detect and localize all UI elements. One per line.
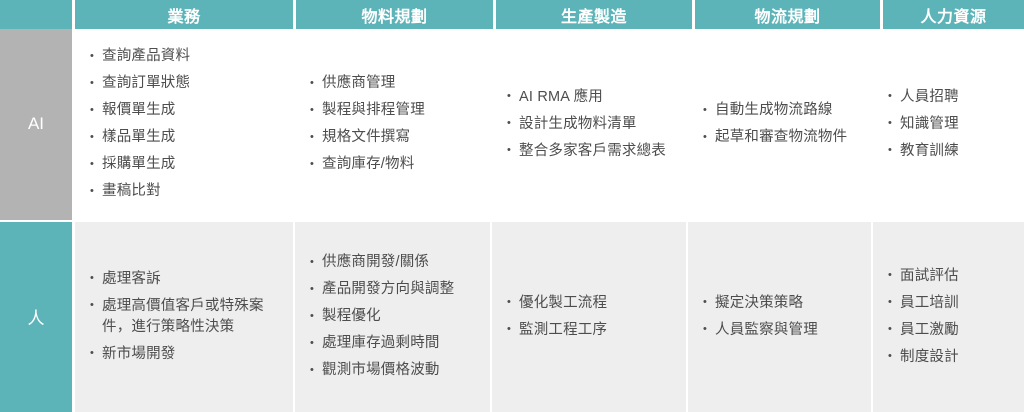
list-item: 製程優化 (309, 306, 480, 327)
list-item: 查詢產品資料 (89, 46, 283, 67)
bullet-list: 查詢產品資料 查詢訂單狀態 報價單生成 樣品單生成 採購單生成 畫稿比對 (89, 46, 283, 202)
list-item: 畫稿比對 (89, 181, 283, 202)
cell-ai-production: AI RMA 應用 設計生成物料清單 整合多家客戶需求總表 (490, 29, 686, 220)
header-corner-cell (0, 0, 72, 29)
column-header-sales[interactable]: 業務 (75, 0, 293, 29)
table-row-ai: AI 查詢產品資料 查詢訂單狀態 報價單生成 樣品單生成 採購單生成 畫稿比對 (0, 29, 1024, 220)
cell-human-production: 優化製工流程 監測工程工序 (490, 222, 686, 412)
list-item: 觀測市場價格波動 (309, 360, 480, 381)
list-item: 處理高價值客戶或特殊案件，進行策略性決策 (89, 296, 283, 338)
list-item: 新市場開發 (89, 344, 283, 365)
bullet-list: 供應商開發/關係 產品開發方向與調整 製程優化 處理庫存過剩時間 觀測市場價格波… (309, 252, 480, 381)
cell-human-material: 供應商開發/關係 產品開發方向與調整 製程優化 處理庫存過剩時間 觀測市場價格波… (293, 222, 490, 412)
list-item: 供應商管理 (309, 73, 480, 94)
list-item: 查詢庫存/物料 (309, 154, 480, 175)
list-item: 整合多家客戶需求總表 (506, 141, 676, 162)
list-item: 起草和審查物流物件 (702, 127, 861, 148)
row-cells-human: 處理客訴 處理高價值客戶或特殊案件，進行策略性決策 新市場開發 供應商開發/關係… (75, 222, 1024, 412)
column-header-logistics[interactable]: 物流規劃 (695, 0, 880, 29)
list-item: 監測工程工序 (506, 320, 676, 341)
list-item: 處理庫存過剩時間 (309, 333, 480, 354)
table-header-row: 業務 物料規劃 生產製造 物流規劃 人力資源 (0, 0, 1024, 29)
bullet-list: 處理客訴 處理高價值客戶或特殊案件，進行策略性決策 新市場開發 (89, 269, 283, 365)
list-item: 制度設計 (887, 347, 1014, 368)
list-item: 知識管理 (887, 114, 1014, 135)
list-item: 報價單生成 (89, 100, 283, 121)
table-body: AI 查詢產品資料 查詢訂單狀態 報價單生成 樣品單生成 採購單生成 畫稿比對 (0, 29, 1024, 412)
table-row-human: 人 處理客訴 處理高價值客戶或特殊案件，進行策略性決策 新市場開發 供應商開發/… (0, 222, 1024, 412)
list-item: 員工培訓 (887, 293, 1014, 314)
row-label-ai: AI (0, 29, 72, 220)
bullet-list: 優化製工流程 監測工程工序 (506, 293, 676, 341)
cell-ai-sales: 查詢產品資料 查詢訂單狀態 報價單生成 樣品單生成 採購單生成 畫稿比對 (75, 29, 293, 220)
column-header-production[interactable]: 生產製造 (496, 0, 692, 29)
list-item: 面試評估 (887, 266, 1014, 287)
cell-human-sales: 處理客訴 處理高價值客戶或特殊案件，進行策略性決策 新市場開發 (75, 222, 293, 412)
cell-ai-logistics: 自動生成物流路線 起草和審查物流物件 (686, 29, 871, 220)
bullet-list: 人員招聘 知識管理 教育訓練 (887, 87, 1014, 162)
list-item: 設計生成物料清單 (506, 114, 676, 135)
bullet-list: 擬定決策策略 人員監察與管理 (702, 293, 861, 341)
bullet-list: 面試評估 員工培訓 員工激勵 制度設計 (887, 266, 1014, 368)
bullet-list: 供應商管理 製程與排程管理 規格文件撰寫 查詢庫存/物料 (309, 73, 480, 175)
column-header-hr[interactable]: 人力資源 (883, 0, 1024, 29)
list-item: 優化製工流程 (506, 293, 676, 314)
ai-human-responsibility-matrix: 業務 物料規劃 生產製造 物流規劃 人力資源 AI 查詢產品資料 查詢訂單狀態 … (0, 0, 1024, 412)
cell-ai-hr: 人員招聘 知識管理 教育訓練 (871, 29, 1024, 220)
list-item: 人員監察與管理 (702, 320, 861, 341)
row-label-human: 人 (0, 222, 72, 412)
list-item: 供應商開發/關係 (309, 252, 480, 273)
cell-human-hr: 面試評估 員工培訓 員工激勵 制度設計 (871, 222, 1024, 412)
list-item: 自動生成物流路線 (702, 100, 861, 121)
list-item: 查詢訂單狀態 (89, 73, 283, 94)
list-item: 處理客訴 (89, 269, 283, 290)
bullet-list: AI RMA 應用 設計生成物料清單 整合多家客戶需求總表 (506, 87, 676, 162)
list-item: 擬定決策策略 (702, 293, 861, 314)
list-item: 製程與排程管理 (309, 100, 480, 121)
list-item: 樣品單生成 (89, 127, 283, 148)
row-cells-ai: 查詢產品資料 查詢訂單狀態 報價單生成 樣品單生成 採購單生成 畫稿比對 供應商… (75, 29, 1024, 220)
list-item: AI RMA 應用 (506, 87, 676, 108)
cell-ai-material: 供應商管理 製程與排程管理 規格文件撰寫 查詢庫存/物料 (293, 29, 490, 220)
list-item: 採購單生成 (89, 154, 283, 175)
column-header-material[interactable]: 物料規劃 (296, 0, 493, 29)
list-item: 教育訓練 (887, 141, 1014, 162)
bullet-list: 自動生成物流路線 起草和審查物流物件 (702, 100, 861, 148)
cell-human-logistics: 擬定決策策略 人員監察與管理 (686, 222, 871, 412)
list-item: 產品開發方向與調整 (309, 279, 480, 300)
list-item: 員工激勵 (887, 320, 1014, 341)
list-item: 人員招聘 (887, 87, 1014, 108)
list-item: 規格文件撰寫 (309, 127, 480, 148)
